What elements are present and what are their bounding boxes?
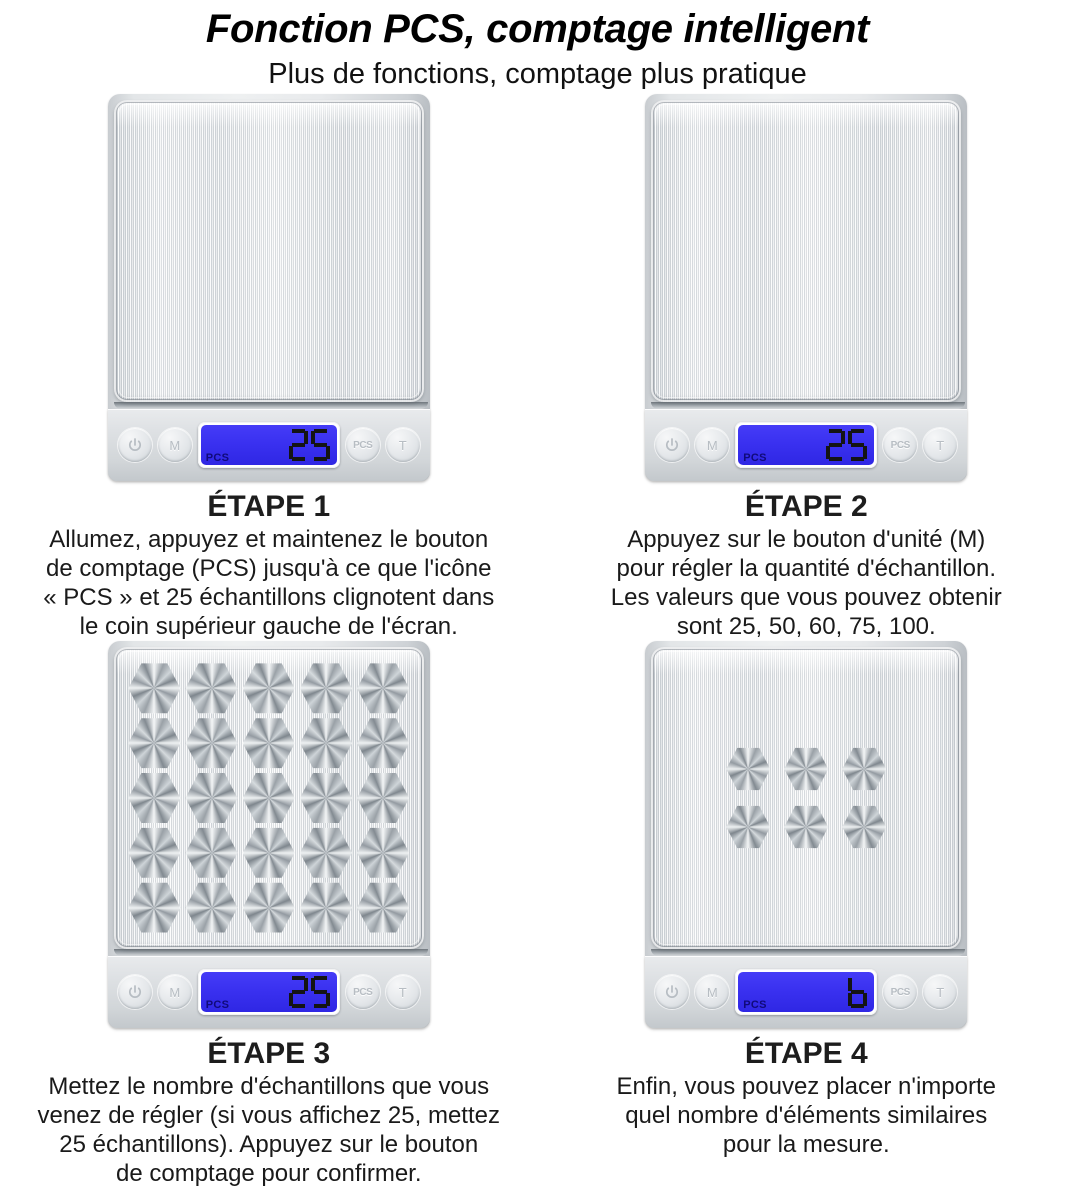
tare-button[interactable]: T [386,975,420,1009]
lcd-digit [311,976,330,1008]
product-infographic: Fonction PCS, comptage intelligent Plus … [0,0,1075,1189]
scale-platform-1 [114,100,424,402]
metal-disc [243,772,295,824]
caption-line: pour la mesure. [544,1130,1070,1159]
metal-disc [243,662,295,714]
lcd-display-1: PCS [198,422,340,468]
step-cell-4: M PCS PCS T ÉTAPE 4 Enfin, vous pouvez p… [538,641,1075,1188]
metal-disc [243,827,295,879]
platform-seam [114,949,428,956]
lcd-display-3: PCS [198,969,340,1015]
lcd-digit [311,429,330,461]
metal-disc [357,882,409,934]
kitchen-scale-4[interactable]: M PCS PCS T [645,641,967,1028]
kitchen-scale-2[interactable]: M PCS PCS T [645,94,967,481]
scale-platform-3 [114,647,424,949]
caption-line: 25 échantillons). Appuyez sur le bouton [6,1130,532,1159]
platform-items-4 [651,647,961,949]
caption-line: de comptage pour confirmer. [6,1159,532,1188]
scale-base-3: M PCS PCS T [108,956,430,1028]
lcd-value-3 [289,976,330,1008]
power-icon[interactable] [655,428,689,462]
step-cell-3: M PCS PCS T ÉTAPE 3 Mettez le nombre d'é… [0,641,538,1188]
steps-grid: M PCS PCS T ÉTAPE 1 Allumez, appuyez et … [0,94,1075,1188]
lcd-digit [289,976,308,1008]
metal-disc [357,662,409,714]
caption-line: Mettez le nombre d'échantillons que vous [6,1072,532,1101]
metal-disc [726,747,770,791]
metal-disc [186,662,238,714]
scale-platform-4 [651,647,961,949]
lcd-digit [826,429,845,461]
tare-button[interactable]: T [386,428,420,462]
caption-line: « PCS » et 25 échantillons clignotent da… [6,583,532,612]
kitchen-scale-1[interactable]: M PCS PCS T [108,94,430,481]
platform-items-1 [114,100,424,402]
lcd-unit-label: PCS [743,452,767,464]
pcs-button[interactable]: PCS [346,428,380,462]
lcd-value-2 [826,429,867,461]
metal-disc [128,827,180,879]
metal-disc [300,662,352,714]
metal-disc [357,772,409,824]
metal-disc [300,827,352,879]
metal-disc [300,772,352,824]
metal-disc [300,717,352,769]
caption-line: quel nombre d'éléments similaires [544,1101,1070,1130]
step-title-1: ÉTAPE 1 [0,489,538,525]
page-title: Fonction PCS, comptage intelligent [0,0,1075,54]
step-body-3: Mettez le nombre d'échantillons que vous… [0,1072,538,1188]
metal-disc [842,805,886,849]
pcs-button[interactable]: PCS [883,428,917,462]
step-title-4: ÉTAPE 4 [538,1036,1075,1072]
scale-base-4: M PCS PCS T [645,956,967,1028]
step-body-1: Allumez, appuyez et maintenez le boutond… [0,525,538,641]
scale-base-1: M PCS PCS T [108,409,430,481]
step-title-2: ÉTAPE 2 [538,489,1075,525]
tare-button[interactable]: T [923,975,957,1009]
caption-line: le coin supérieur gauche de l'écran. [6,612,532,641]
metal-disc [357,827,409,879]
lcd-unit-label: PCS [743,999,767,1011]
metal-disc [357,717,409,769]
caption-line: de comptage (PCS) jusqu'à ce que l'icône [6,554,532,583]
metal-disc [186,717,238,769]
metal-disc [784,747,828,791]
metal-disc [842,747,886,791]
metal-disc [300,882,352,934]
lcd-digit [848,976,867,1008]
metal-disc [128,772,180,824]
scale-base-2: M PCS PCS T [645,409,967,481]
step-body-2: Appuyez sur le bouton d'unité (M)pour ré… [538,525,1075,641]
metal-disc [726,805,770,849]
caption-line: pour régler la quantité d'échantillon. [544,554,1070,583]
metal-disc [128,882,180,934]
platform-items-3 [114,647,424,949]
scale-platform-2 [651,100,961,402]
lcd-unit-label: PCS [206,999,230,1011]
platform-seam [114,402,428,409]
lcd-display-4: PCS [735,969,877,1015]
lcd-digit [848,429,867,461]
lcd-value-1 [289,429,330,461]
power-icon[interactable] [118,975,152,1009]
platform-seam [651,949,965,956]
kitchen-scale-3[interactable]: M PCS PCS T [108,641,430,1028]
platform-seam [651,402,965,409]
caption-line: Enfin, vous pouvez placer n'importe [544,1072,1070,1101]
platform-items-2 [651,100,961,402]
lcd-value-4 [848,976,867,1008]
metal-disc [243,717,295,769]
mode-button[interactable]: M [158,428,192,462]
metal-disc [186,772,238,824]
power-icon[interactable] [118,428,152,462]
step-cell-1: M PCS PCS T ÉTAPE 1 Allumez, appuyez et … [0,94,538,641]
mode-button[interactable]: M [695,428,729,462]
power-icon[interactable] [655,975,689,1009]
metal-disc [186,882,238,934]
step-title-3: ÉTAPE 3 [0,1036,538,1072]
step-body-4: Enfin, vous pouvez placer n'importequel … [538,1072,1075,1159]
step-cell-2: M PCS PCS T ÉTAPE 2 Appuyez sur le bouto… [538,94,1075,641]
mode-button[interactable]: M [695,975,729,1009]
lcd-display-2: PCS [735,422,877,468]
metal-disc [784,805,828,849]
caption-line: Appuyez sur le bouton d'unité (M) [544,525,1070,554]
caption-line: sont 25, 50, 60, 75, 100. [544,612,1070,641]
lcd-unit-label: PCS [206,452,230,464]
metal-disc [186,827,238,879]
metal-disc [128,717,180,769]
caption-line: Les valeurs que vous pouvez obtenir [544,583,1070,612]
mode-button[interactable]: M [158,975,192,1009]
caption-line: Allumez, appuyez et maintenez le bouton [6,525,532,554]
metal-disc [243,882,295,934]
lcd-digit [289,429,308,461]
tare-button[interactable]: T [923,428,957,462]
pcs-button[interactable]: PCS [883,975,917,1009]
pcs-button[interactable]: PCS [346,975,380,1009]
page-subtitle: Plus de fonctions, comptage plus pratiqu… [0,54,1075,94]
metal-disc [128,662,180,714]
caption-line: venez de régler (si vous affichez 25, me… [6,1101,532,1130]
